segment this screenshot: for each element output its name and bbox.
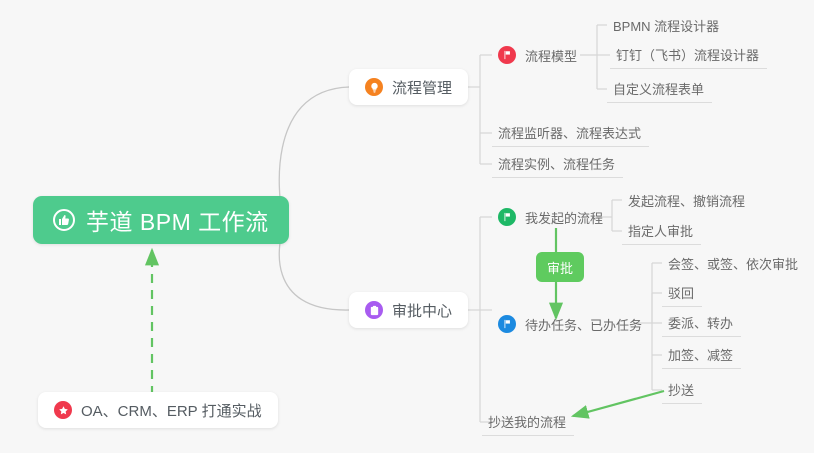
node-dingtalk-feishu-designer[interactable]: 钉钉（飞书）流程设计器	[610, 41, 767, 69]
branch-approval-center[interactable]: 审批中心	[349, 292, 468, 328]
node-label: 流程模型	[525, 46, 577, 65]
cc-flow-arrow	[573, 391, 664, 416]
root-node[interactable]: 芋道 BPM 工作流	[33, 196, 289, 244]
node-cc-to-me-process[interactable]: 抄送我的流程	[482, 408, 574, 436]
node-label: 加签、减签	[668, 345, 733, 364]
node-label: 驳回	[668, 283, 694, 302]
node-label: 钉钉（飞书）流程设计器	[616, 45, 759, 64]
node-cc[interactable]: 抄送	[662, 376, 702, 404]
node-custom-process-form[interactable]: 自定义流程表单	[607, 75, 712, 103]
thumbs-up-icon	[53, 209, 75, 231]
node-label: 委派、转办	[668, 313, 733, 332]
footnote-label: OA、CRM、ERP 打通实战	[81, 400, 262, 421]
flag-blue-icon	[498, 315, 516, 333]
process-management-links	[465, 55, 492, 164]
branch-label: 审批中心	[392, 300, 452, 321]
flag-red-icon	[498, 46, 516, 64]
node-label: 我发起的流程	[525, 208, 603, 227]
branch-label: 流程管理	[392, 77, 452, 98]
root-label: 芋道 BPM 工作流	[86, 203, 269, 237]
node-listener-expression[interactable]: 流程监听器、流程表达式	[492, 119, 649, 147]
node-label: 会签、或签、依次审批	[668, 254, 798, 273]
node-process-model[interactable]: 流程模型	[492, 41, 585, 69]
node-countersign[interactable]: 会签、或签、依次审批	[662, 249, 806, 277]
approval-tag-label: 审批	[547, 258, 573, 277]
node-label: 自定义流程表单	[613, 79, 704, 98]
node-label: 指定人审批	[628, 221, 693, 240]
approval-center-links	[465, 217, 492, 422]
node-label: 流程实例、流程任务	[498, 154, 615, 173]
footnote-node[interactable]: OA、CRM、ERP 打通实战	[38, 392, 278, 428]
node-label: 流程监听器、流程表达式	[498, 123, 641, 142]
star-icon	[54, 401, 72, 419]
clipboard-icon	[365, 301, 383, 319]
root-branch-curves	[279, 87, 349, 310]
lightbulb-icon	[365, 78, 383, 96]
node-label: 待办任务、已办任务	[525, 315, 642, 334]
node-label: 发起流程、撤销流程	[628, 191, 745, 210]
flag-green-icon	[498, 208, 516, 226]
node-assignee-approval[interactable]: 指定人审批	[622, 217, 701, 245]
node-instance-task[interactable]: 流程实例、流程任务	[492, 150, 623, 178]
node-label: BPMN 流程设计器	[613, 16, 719, 35]
branch-process-management[interactable]: 流程管理	[349, 69, 468, 105]
node-label: 抄送	[668, 380, 694, 399]
node-todo-done-tasks[interactable]: 待办任务、已办任务	[492, 310, 650, 338]
node-label: 抄送我的流程	[488, 412, 566, 431]
node-bpmn-designer[interactable]: BPMN 流程设计器	[607, 11, 727, 39]
node-delegate-transfer[interactable]: 委派、转办	[662, 309, 741, 337]
node-my-started-process[interactable]: 我发起的流程	[492, 203, 611, 231]
mindmap-canvas: 芋道 BPM 工作流 流程管理 流程模型 流程监听器、流程表达式 流程实例、流程…	[0, 0, 814, 453]
node-start-cancel-process[interactable]: 发起流程、撤销流程	[622, 186, 753, 214]
approval-tag: 审批	[536, 252, 584, 282]
node-reject[interactable]: 驳回	[662, 279, 702, 307]
node-add-remove-sign[interactable]: 加签、减签	[662, 341, 741, 369]
